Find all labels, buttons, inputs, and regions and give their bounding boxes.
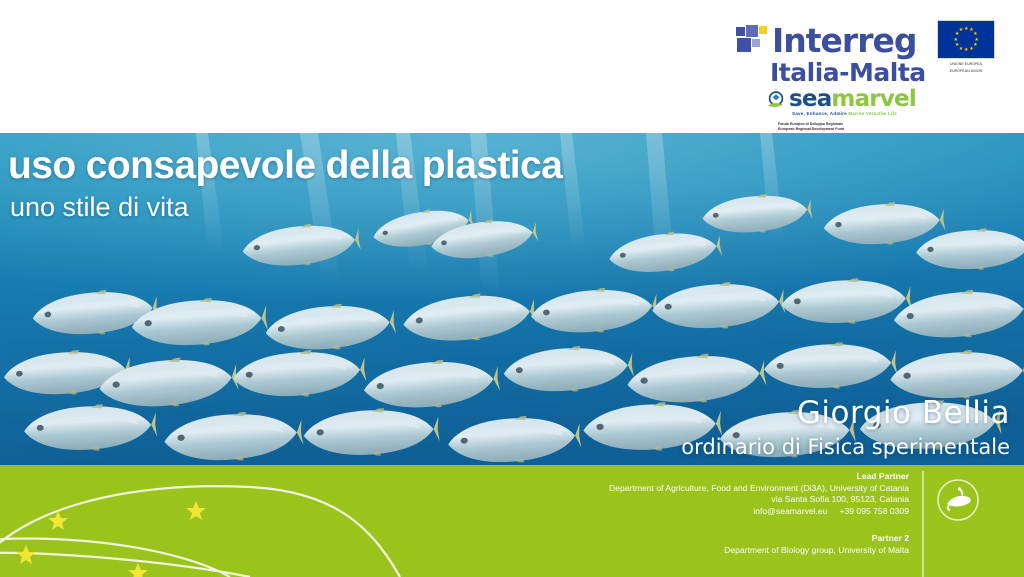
logo-band: Interreg Italia-Malta ★★★★★★★★★★★★ UNION… [0, 0, 1024, 133]
erdf-fund-note: Fondo Europeo di Sviluppo Regionale Euro… [778, 122, 844, 131]
page-title: uso consapevole della plastica [8, 146, 562, 187]
eu-star: ★ [975, 38, 979, 42]
lead-partner-block: Lead Partner Department of Agriculture, … [609, 471, 909, 517]
logo-cluster: Interreg Italia-Malta ★★★★★★★★★★★★ UNION… [730, 12, 998, 130]
lead-partner-title: Lead Partner [609, 471, 909, 483]
speaker-name: Giorgio Bellia [681, 396, 1010, 432]
turtle-circle-icon [935, 477, 981, 523]
eu-flag-icon: ★★★★★★★★★★★★ [937, 20, 995, 59]
footer-band: Lead Partner Department of Agriculture, … [0, 465, 1024, 577]
interreg-programme-name: Italia-Malta [770, 60, 926, 85]
seamarvel-logo: seamarvel [766, 88, 916, 111]
speaker-block: Giorgio Bellia ordinario di Fisica speri… [681, 396, 1010, 461]
eu-caption-line2: EUROPEAN UNION [934, 69, 998, 73]
eu-caption-line1: UNIONE EUROPEA [934, 62, 998, 66]
footer-divider [922, 471, 924, 577]
interreg-logo: Interreg [736, 20, 916, 60]
partner-2-title: Partner 2 [724, 533, 909, 545]
eu-star: ★ [964, 27, 968, 31]
lead-partner-contact: info@seamarvel.eu +39 095 758 0309 [609, 506, 909, 518]
seamarvel-tagline: Save, Enhance, Admire Marine Versatile L… [792, 111, 897, 117]
erdf-line-en: European Regional Development Fund [778, 127, 844, 132]
title-block: uso consapevole della plastica uno stile… [8, 146, 562, 223]
presentation-slide: Interreg Italia-Malta ★★★★★★★★★★★★ UNION… [0, 0, 1024, 577]
page-subtitle: uno stile di vita [10, 191, 562, 223]
eu-star: ★ [973, 32, 977, 36]
eu-star: ★ [954, 38, 958, 42]
speaker-role: ordinario di Fisica sperimentale [681, 434, 1010, 461]
interreg-wordmark: Interreg [772, 24, 916, 57]
eu-star: ★ [955, 43, 959, 47]
lead-partner-phone: +39 095 758 0309 [839, 506, 909, 516]
eu-emblem: ★★★★★★★★★★★★ UNIONE EUROPEA EUROPEAN UNI… [934, 20, 998, 74]
erdf-line-it: Fondo Europeo di Sviluppo Regionale [778, 122, 844, 127]
partner-2-department: Department of Biology group, University … [724, 545, 909, 557]
seamarvel-tagline-part1: Save, Enhance, Admire [792, 111, 847, 116]
seamarvel-word-marvel: marvel [831, 86, 916, 112]
interreg-squares-icon [736, 25, 766, 55]
eu-star: ★ [964, 48, 968, 52]
seamarvel-wordmark: seamarvel [789, 88, 916, 111]
seamarvel-word-sea: sea [789, 86, 831, 112]
eu-star: ★ [959, 47, 963, 51]
eu-star: ★ [969, 47, 973, 51]
lead-partner-department: Department of Agriculture, Food and Envi… [609, 483, 909, 495]
seamarvel-tagline-part2: Marine Versatile Life [848, 111, 897, 116]
lead-partner-address: via Santa Sofia 100, 95123, Catania [609, 494, 909, 506]
eu-star: ★ [959, 28, 963, 32]
recycle-leaf-icon [766, 90, 786, 110]
partner-2-block: Partner 2 Department of Biology group, U… [724, 533, 909, 556]
lead-partner-email[interactable]: info@seamarvel.eu [753, 506, 827, 516]
hero-underwater-photo: uso consapevole della plastica uno stile… [0, 133, 1024, 465]
